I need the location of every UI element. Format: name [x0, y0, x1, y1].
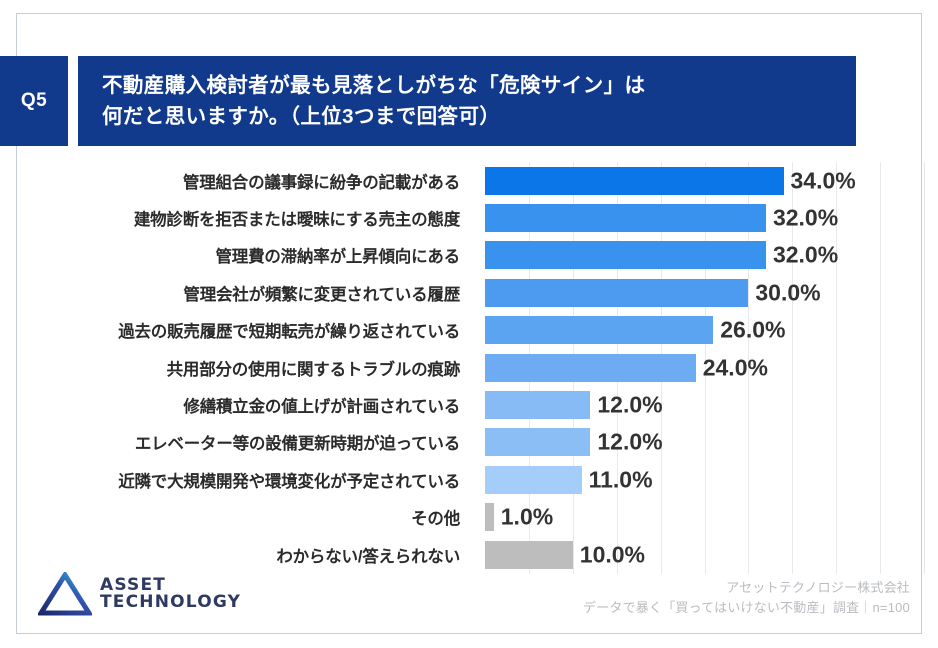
slide-root: Q5 不動産購入検討者が最も見落としがちな「危険サイン」は 何だと思いますか。（… — [0, 0, 938, 648]
question-title-box: 不動産購入検討者が最も見落としがちな「危険サイン」は 何だと思いますか。（上位3… — [78, 56, 856, 146]
chart-row: 共用部分の使用に関するトラブルの痕跡24.0% — [0, 349, 938, 386]
question-number-label: Q5 — [21, 90, 47, 112]
bar — [485, 167, 784, 195]
category-label: 管理会社が頻繁に変更されている履歴 — [0, 281, 472, 305]
bar — [485, 466, 582, 494]
bar — [485, 391, 590, 419]
category-label: 建物診断を拒否または曖昧にする売主の態度 — [0, 206, 472, 230]
credit-company: アセットテクノロジー株式会社 — [583, 578, 910, 598]
bar-value-label: 12.0% — [590, 429, 662, 456]
category-label: 過去の販売履歴で短期転売が繰り返されている — [0, 318, 472, 342]
bar-value-label: 12.0% — [590, 392, 662, 419]
bar-track: 32.0% — [485, 237, 924, 274]
bar-track: 26.0% — [485, 312, 924, 349]
question-title-line-2: 何だと思いますか。（上位3つまで回答可） — [102, 101, 856, 132]
bar — [485, 316, 713, 344]
question-number-badge: Q5 — [0, 56, 68, 146]
source-credit: アセットテクノロジー株式会社 データで暴く「買ってはいけない不動産」調査｜n=1… — [583, 578, 910, 618]
bar — [485, 279, 748, 307]
bar-track: 24.0% — [485, 349, 924, 386]
triangle-logo-icon — [38, 572, 92, 616]
bar — [485, 541, 573, 569]
category-label: 修繕積立金の値上げが計画されている — [0, 393, 472, 417]
bar — [485, 354, 696, 382]
chart-row: 近隣で大規模開発や環境変化が予定されている11.0% — [0, 461, 938, 498]
chart-row: 過去の販売履歴で短期転売が繰り返されている26.0% — [0, 312, 938, 349]
bar-value-label: 30.0% — [748, 279, 820, 306]
bar-value-label: 11.0% — [582, 466, 653, 493]
logo-text-technology: TECHNOLOGY — [100, 594, 241, 611]
bar-track: 30.0% — [485, 274, 924, 311]
chart-row: 管理費の滞納率が上昇傾向にある32.0% — [0, 237, 938, 274]
chart-row: 修繕積立金の値上げが計画されている12.0% — [0, 386, 938, 423]
category-label: わからない/答えられない — [0, 543, 472, 567]
bar-value-label: 32.0% — [766, 242, 838, 269]
bar-track: 12.0% — [485, 386, 924, 423]
chart-row: エレベーター等の設備更新時期が迫っている12.0% — [0, 424, 938, 461]
bar — [485, 428, 590, 456]
asset-technology-logo: ASSET TECHNOLOGY — [38, 572, 241, 616]
question-title-line-1: 不動産購入検討者が最も見落としがちな「危険サイン」は — [102, 70, 856, 101]
bar-value-label: 26.0% — [713, 317, 785, 344]
chart-row: 管理組合の議事録に紛争の記載がある34.0% — [0, 162, 938, 199]
category-label: 共用部分の使用に関するトラブルの痕跡 — [0, 356, 472, 380]
category-label: その他 — [0, 505, 472, 529]
bar-track: 34.0% — [485, 162, 924, 199]
bar — [485, 503, 494, 531]
bar-value-label: 24.0% — [696, 354, 768, 381]
slide-footer: ASSET TECHNOLOGY アセットテクノロジー株式会社 データで暴く「買… — [0, 566, 938, 636]
logo-wordmark: ASSET TECHNOLOGY — [100, 577, 241, 612]
category-label: 近隣で大規模開発や環境変化が予定されている — [0, 468, 472, 492]
horizontal-bar-chart: 管理組合の議事録に紛争の記載がある34.0%建物診断を拒否または曖昧にする売主の… — [0, 162, 938, 574]
bar-track: 32.0% — [485, 199, 924, 236]
bar-value-label: 32.0% — [766, 205, 838, 232]
category-label: 管理組合の議事録に紛争の記載がある — [0, 169, 472, 193]
bar-track: 11.0% — [485, 461, 924, 498]
bar-track: 12.0% — [485, 424, 924, 461]
chart-row: 管理会社が頻繁に変更されている履歴30.0% — [0, 274, 938, 311]
category-label: エレベーター等の設備更新時期が迫っている — [0, 430, 472, 454]
bar-value-label: 10.0% — [573, 541, 645, 568]
bar-value-label: 34.0% — [784, 167, 856, 194]
bar — [485, 241, 766, 269]
credit-survey: データで暴く「買ってはいけない不動産」調査｜n=100 — [583, 598, 910, 618]
category-label: 管理費の滞納率が上昇傾向にある — [0, 243, 472, 267]
chart-row: 建物診断を拒否または曖昧にする売主の態度32.0% — [0, 199, 938, 236]
bar-track: 1.0% — [485, 499, 924, 536]
chart-row: その他1.0% — [0, 499, 938, 536]
bar — [485, 204, 766, 232]
bar-value-label: 1.0% — [494, 504, 553, 531]
question-header: Q5 不動産購入検討者が最も見落としがちな「危険サイン」は 何だと思いますか。（… — [0, 56, 938, 146]
